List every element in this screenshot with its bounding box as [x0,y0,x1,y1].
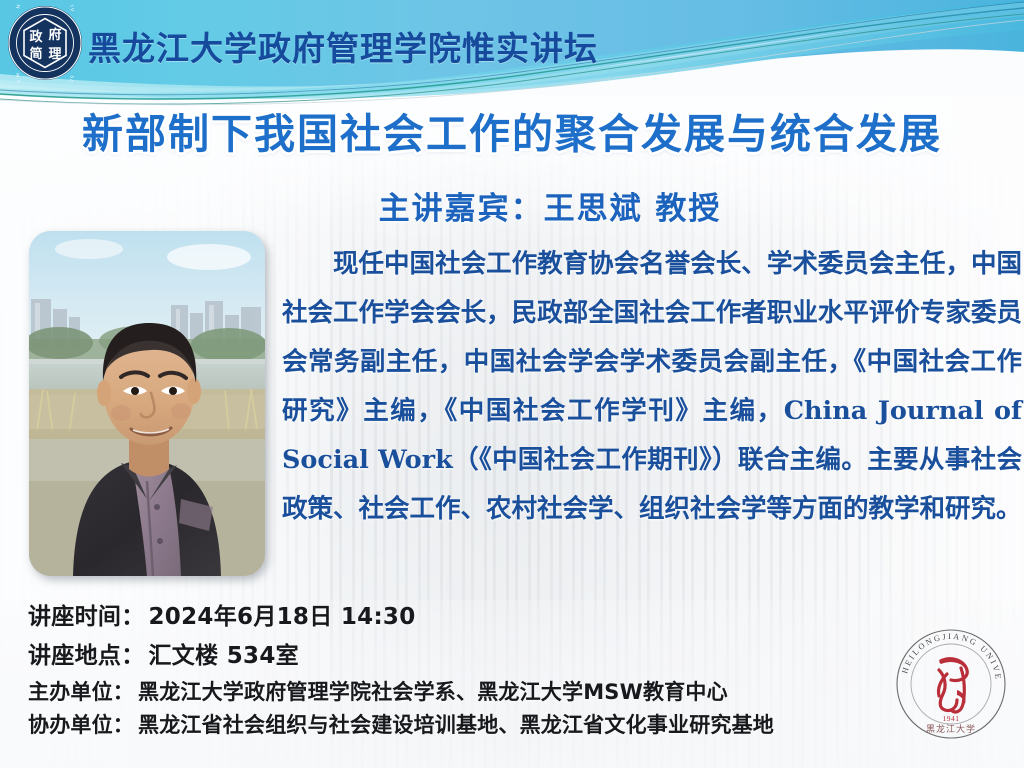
detail-label: 讲座时间： [28,604,145,630]
detail-value: 汇文楼 534室 [149,643,299,669]
svg-text:府: 府 [48,27,61,43]
seal-year: 1941 [943,714,960,723]
detail-label: 主办单位： [28,680,134,704]
university-seal-watermark: HEILONGJIANG UNIVERSITY 1941 黑龙江大学 [895,628,1007,740]
detail-row: 讲座地点：汇文楼 534室 [28,637,908,676]
lecture-headline: 新部制下我国社会工作的聚合发展与统合发展 [0,100,1024,160]
seal-bottom-chars: 黑龙江大学 [926,723,976,735]
detail-label: 讲座地点： [28,643,145,669]
speaker-portrait-photo [29,231,265,576]
detail-row: 讲座时间：2024年6月18日 14:30 [28,598,908,637]
detail-label: 协办单位： [28,713,134,737]
detail-value: 黑龙江省社会组织与社会建设培训基地、黑龙江省文化事业研究基地 [138,713,774,737]
svg-text:政: 政 [29,29,43,45]
poster-canvas: HEI LONG JIANG UNIVERSITY SCHOOL OF GOVE… [0,0,1024,768]
speaker-biography: 现任中国社会工作教育协会名誉会长、学术委员会主任，中国社会工作学会会长，民政部全… [282,240,1022,534]
svg-text:理: 理 [48,47,61,62]
school-seal-logo: HEI LONG JIANG UNIVERSITY SCHOOL OF GOVE… [6,4,84,82]
detail-value: 2024年6月18日 14:30 [149,604,416,630]
svg-text:简: 简 [29,46,42,62]
lecture-details: 讲座时间：2024年6月18日 14:30 讲座地点：汇文楼 534室 主办单位… [28,598,908,742]
detail-value: 黑龙江大学政府管理学院社会学系、黑龙江大学MSW教育中心 [138,680,728,704]
svg-text:HEILONGJIANG UNIVERSITY: HEILONGJIANG UNIVERSITY [895,628,1003,682]
detail-row: 协办单位：黑龙江省社会组织与社会建设培训基地、黑龙江省文化事业研究基地 [28,709,908,742]
header-org-title: 黑龙江大学政府管理学院惟实讲坛 [88,22,598,70]
speaker-line: 主讲嘉宾：王思斌 教授 [300,183,800,228]
detail-row: 主办单位：黑龙江大学政府管理学院社会学系、黑龙江大学MSW教育中心 [28,676,908,709]
